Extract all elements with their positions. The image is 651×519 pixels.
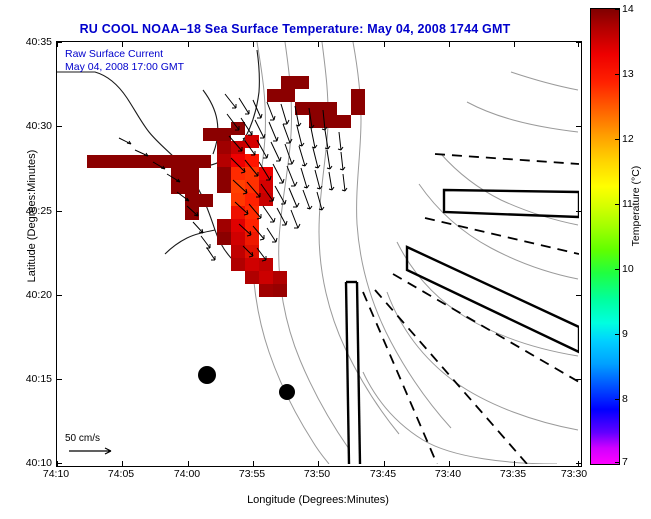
station-marker (198, 366, 216, 384)
colorbar-tick-label: 9 (622, 328, 628, 340)
xtick-label: 74:05 (108, 468, 134, 480)
map-plot-area: Raw Surface Current May 04, 2008 17:00 G… (56, 41, 582, 467)
colorbar (590, 8, 620, 465)
vector-scale-arrow (67, 444, 127, 458)
xtick-label: 73:45 (370, 468, 396, 480)
xtick-label: 73:40 (435, 468, 461, 480)
annotation-text: Raw Surface Current May 04, 2008 17:00 G… (65, 48, 184, 74)
shipping-lanes-solid (346, 190, 579, 464)
colorbar-label: Temperature (°C) (630, 136, 642, 276)
y-axis-label: Latitude (Degrees:Minutes) (26, 96, 38, 336)
colorbar-tick-label: 14 (622, 3, 634, 15)
xtick-label: 74:00 (174, 468, 200, 480)
x-axis-label: Longitude (Degrees:Minutes) (56, 494, 580, 506)
station-marker (279, 384, 295, 400)
xtick-label: 73:30 (561, 468, 587, 480)
xtick-label: 73:55 (239, 468, 265, 480)
sst-map-figure: RU COOL NOAA–18 Sea Surface Temperature:… (0, 0, 651, 519)
sst-pixels (87, 76, 365, 297)
xtick-label: 73:50 (304, 468, 330, 480)
xtick-label: 74:10 (43, 468, 69, 480)
ytick-label: 40:15 (12, 373, 52, 385)
map-graphics (57, 42, 579, 464)
vector-scale-label: 50 cm/s (65, 433, 100, 444)
colorbar-tick-label: 8 (622, 393, 628, 405)
colorbar-tick-label: 13 (622, 68, 634, 80)
shipping-lanes-dashed (363, 154, 579, 464)
ytick-label: 40:10 (12, 457, 52, 469)
colorbar-tick-label: 7 (622, 456, 628, 468)
xtick-label: 73:35 (500, 468, 526, 480)
ytick-label: 40:35 (12, 36, 52, 48)
page-title: RU COOL NOAA–18 Sea Surface Temperature:… (0, 22, 590, 36)
